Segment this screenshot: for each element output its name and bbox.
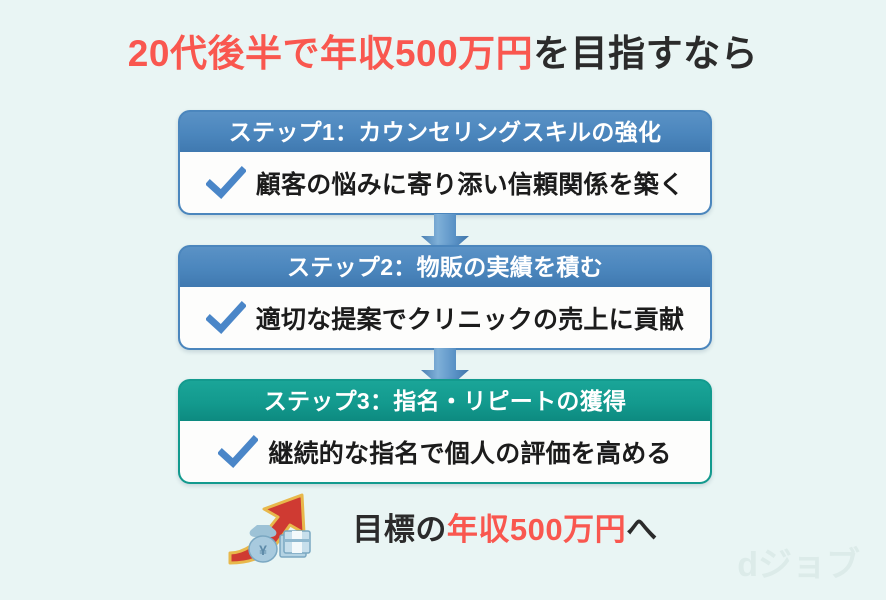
step-3-text: 継続的な指名で個人の評価を高める [268, 434, 671, 470]
step-1-heading: ステップ1：カウンセリングスキルの強化 [180, 112, 710, 152]
check-icon [218, 435, 258, 469]
step-2-heading: ステップ2：物販の実績を積む [180, 247, 710, 287]
goal-suffix: へ [626, 512, 658, 547]
svg-text:¥: ¥ [259, 542, 267, 558]
step-1-body: 顧客の悩みに寄り添い信頼関係を築く [180, 152, 710, 213]
check-icon [206, 166, 246, 200]
money-bag-icon: ¥ [249, 525, 277, 562]
infographic-canvas: 20代後半で年収500万円を目指すなら ステップ1：カウンセリングスキルの強化 … [0, 0, 886, 600]
step-3-heading: ステップ3：指名・リピートの獲得 [180, 381, 710, 421]
money-stack-icon [280, 531, 310, 557]
step-card-3: ステップ3：指名・リピートの獲得 継続的な指名で個人の評価を高める [178, 379, 712, 484]
step-1-text: 顧客の悩みに寄り添い信頼関係を築く [256, 165, 684, 201]
step-2-text: 適切な提案でクリニックの売上に貢献 [256, 300, 684, 336]
growth-arrow-money-icon: ¥ [228, 487, 338, 565]
goal-text: 目標の年収500万円へ [352, 504, 657, 549]
step-card-1: ステップ1：カウンセリングスキルの強化 顧客の悩みに寄り添い信頼関係を築く [178, 110, 712, 215]
page-title: 20代後半で年収500万円を目指すなら [0, 32, 886, 76]
check-icon [206, 301, 246, 335]
page-title-accent: 20代後半で年収500万円 [128, 33, 533, 74]
goal-amount: 年収500万円 [447, 512, 626, 547]
step-3-body: 継続的な指名で個人の評価を高める [180, 421, 710, 482]
goal-prefix: 目標の [352, 512, 447, 547]
step-2-body: 適切な提案でクリニックの売上に貢献 [180, 287, 710, 348]
step-card-2: ステップ2：物販の実績を積む 適切な提案でクリニックの売上に貢献 [178, 245, 712, 350]
page-title-plain: を目指すなら [533, 33, 758, 74]
brand-logo: dジョブ [737, 548, 860, 582]
